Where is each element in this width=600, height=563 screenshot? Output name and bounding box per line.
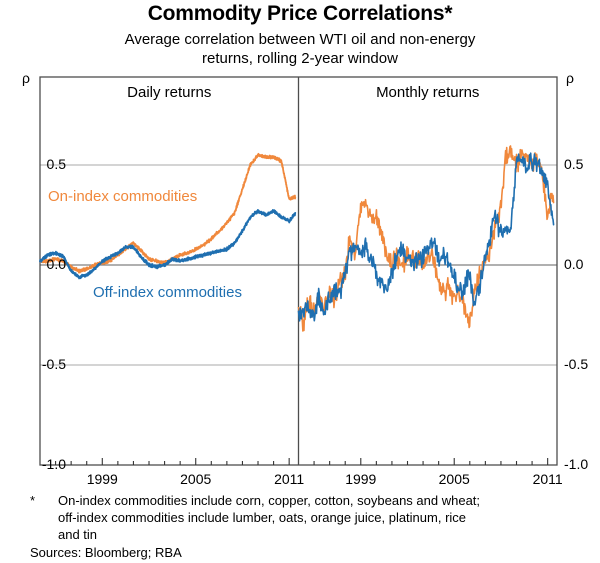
footnote-line-1: On-index commodities include corn, coppe… [58,493,480,508]
y-axis-label-r-0.5: 0.5 [564,156,583,172]
y-axis-label-l--1.0: -1.0 [42,456,66,472]
footnote-line-3: and tin [58,527,97,542]
x-axis-label-monthly-2011: 2011 [533,471,563,487]
panel-title-monthly: Monthly returns [376,84,479,101]
series-line-off-index [299,153,554,321]
x-axis-label-daily-1999: 1999 [87,471,118,487]
footnote-mark: * [30,492,58,543]
footnote-text: On-index commodities include corn, coppe… [58,492,590,543]
y-axis-label-r--0.5: -0.5 [564,356,588,372]
footnote-note: * On-index commodities include corn, cop… [30,492,590,543]
panel-title-daily: Daily returns [127,84,211,101]
y-axis-label-r--1.0: -1.0 [564,456,588,472]
x-axis-label-monthly-1999: 1999 [345,471,376,487]
x-axis-label-monthly-2005: 2005 [439,471,470,487]
sources-line: Sources: Bloomberg; RBA [30,544,590,561]
legend-on-index-commodities: On-index commodities [48,188,197,205]
footnote-line-2: off-index commodities include lumber, oa… [58,510,466,525]
chart-figure: Commodity Price Correlations* Average co… [0,0,600,563]
y-axis-label-r-0.0: 0.0 [564,256,583,272]
footnotes: * On-index commodities include corn, cop… [30,492,590,561]
x-axis-label-daily-2005: 2005 [180,471,211,487]
legend-off-index-commodities: Off-index commodities [93,284,242,301]
x-axis-label-daily-2011: 2011 [274,471,304,487]
y-axis-label-l-0.0: 0.0 [47,256,66,272]
y-axis-label-l-0.5: 0.5 [47,156,66,172]
series-line-off-index [40,210,295,279]
y-axis-label-l--0.5: -0.5 [42,356,66,372]
